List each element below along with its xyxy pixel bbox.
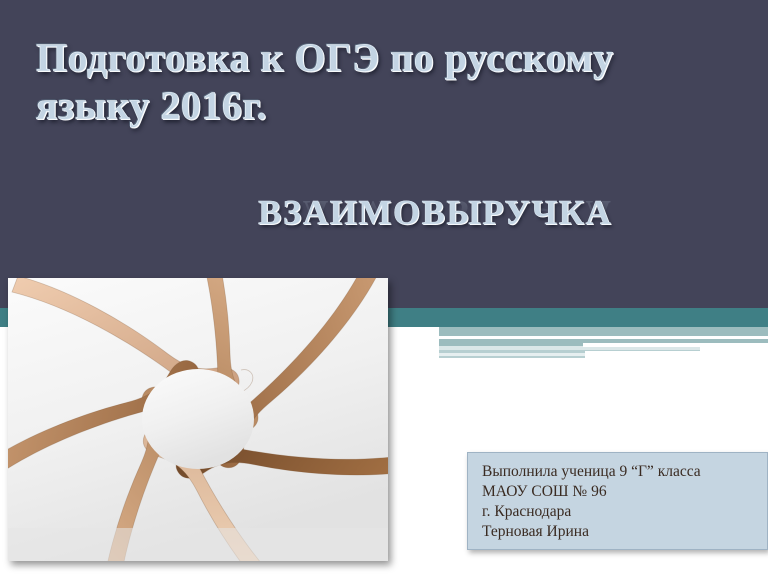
author-line-3: г. Краснодара	[482, 502, 767, 522]
subtitle-group: ВЗАИМОВЫРУЧКА ВЗАИМОВЫРУЧКА	[258, 192, 758, 270]
presentation-slide: Подготовка к ОГЭ по русскому языку 2016г…	[0, 0, 768, 576]
hands-circle-photo	[8, 278, 388, 561]
author-line-1: Выполнила ученица 9 “Г” класса	[482, 462, 767, 482]
author-line-4: Терновая Ирина	[482, 522, 767, 542]
author-line-2: МАОУ СОШ № 96	[482, 482, 767, 502]
subtitle-reflection: ВЗАИМОВЫРУЧКА	[258, 191, 612, 233]
page-title-line-1: Подготовка к ОГЭ по русскому	[36, 34, 736, 82]
hands-circle-illustration	[8, 278, 388, 561]
author-credits-box: Выполнила ученица 9 “Г” класса МАОУ СОШ …	[467, 452, 768, 550]
band-notch-right-3	[585, 351, 768, 360]
page-title: Подготовка к ОГЭ по русскому языку 2016г…	[36, 34, 736, 130]
page-title-line-2: языку 2016г.	[36, 82, 736, 130]
